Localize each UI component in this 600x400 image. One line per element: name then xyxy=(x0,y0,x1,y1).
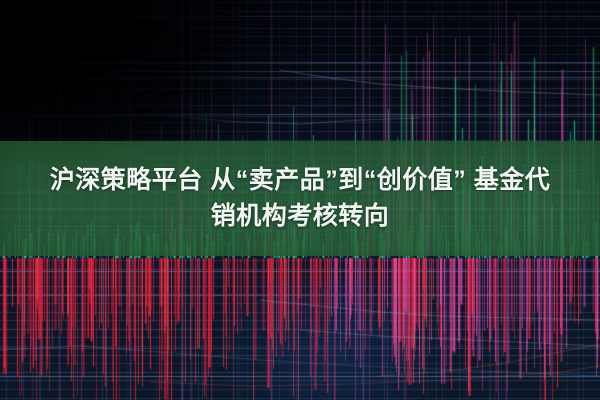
banner-image: 沪深策略平台 从“卖产品”到“创价值” 基金代 销机构考核转向 xyxy=(0,0,600,400)
stock-chart-background xyxy=(0,0,600,400)
